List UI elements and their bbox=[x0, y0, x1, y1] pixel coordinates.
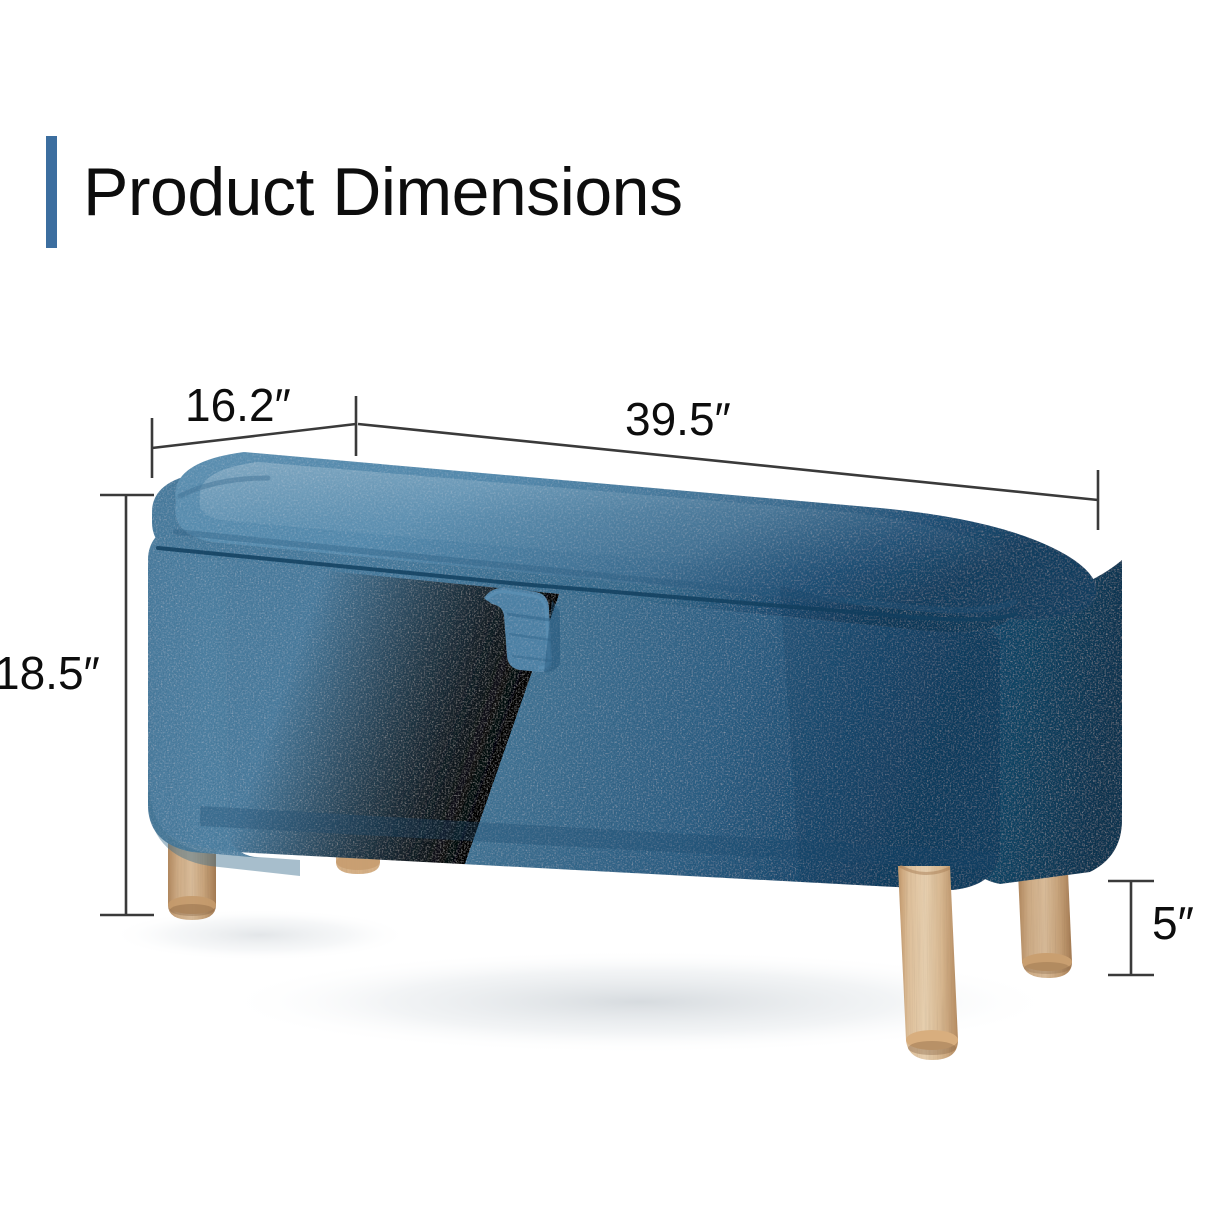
height-dimension-label: 18.5″ bbox=[0, 650, 100, 696]
floor-shadow-left bbox=[110, 909, 410, 961]
product-illustration bbox=[0, 0, 1208, 1208]
leg-back-right bbox=[1018, 872, 1072, 978]
depth-dimension-label: 16.2″ bbox=[185, 382, 291, 428]
leg-front-right bbox=[898, 866, 958, 1060]
product-dimensions-page: Product Dimensions bbox=[0, 0, 1208, 1208]
leg-height-dimension-label: 5″ bbox=[1152, 900, 1194, 946]
width-dimension-label: 39.5″ bbox=[625, 396, 731, 442]
